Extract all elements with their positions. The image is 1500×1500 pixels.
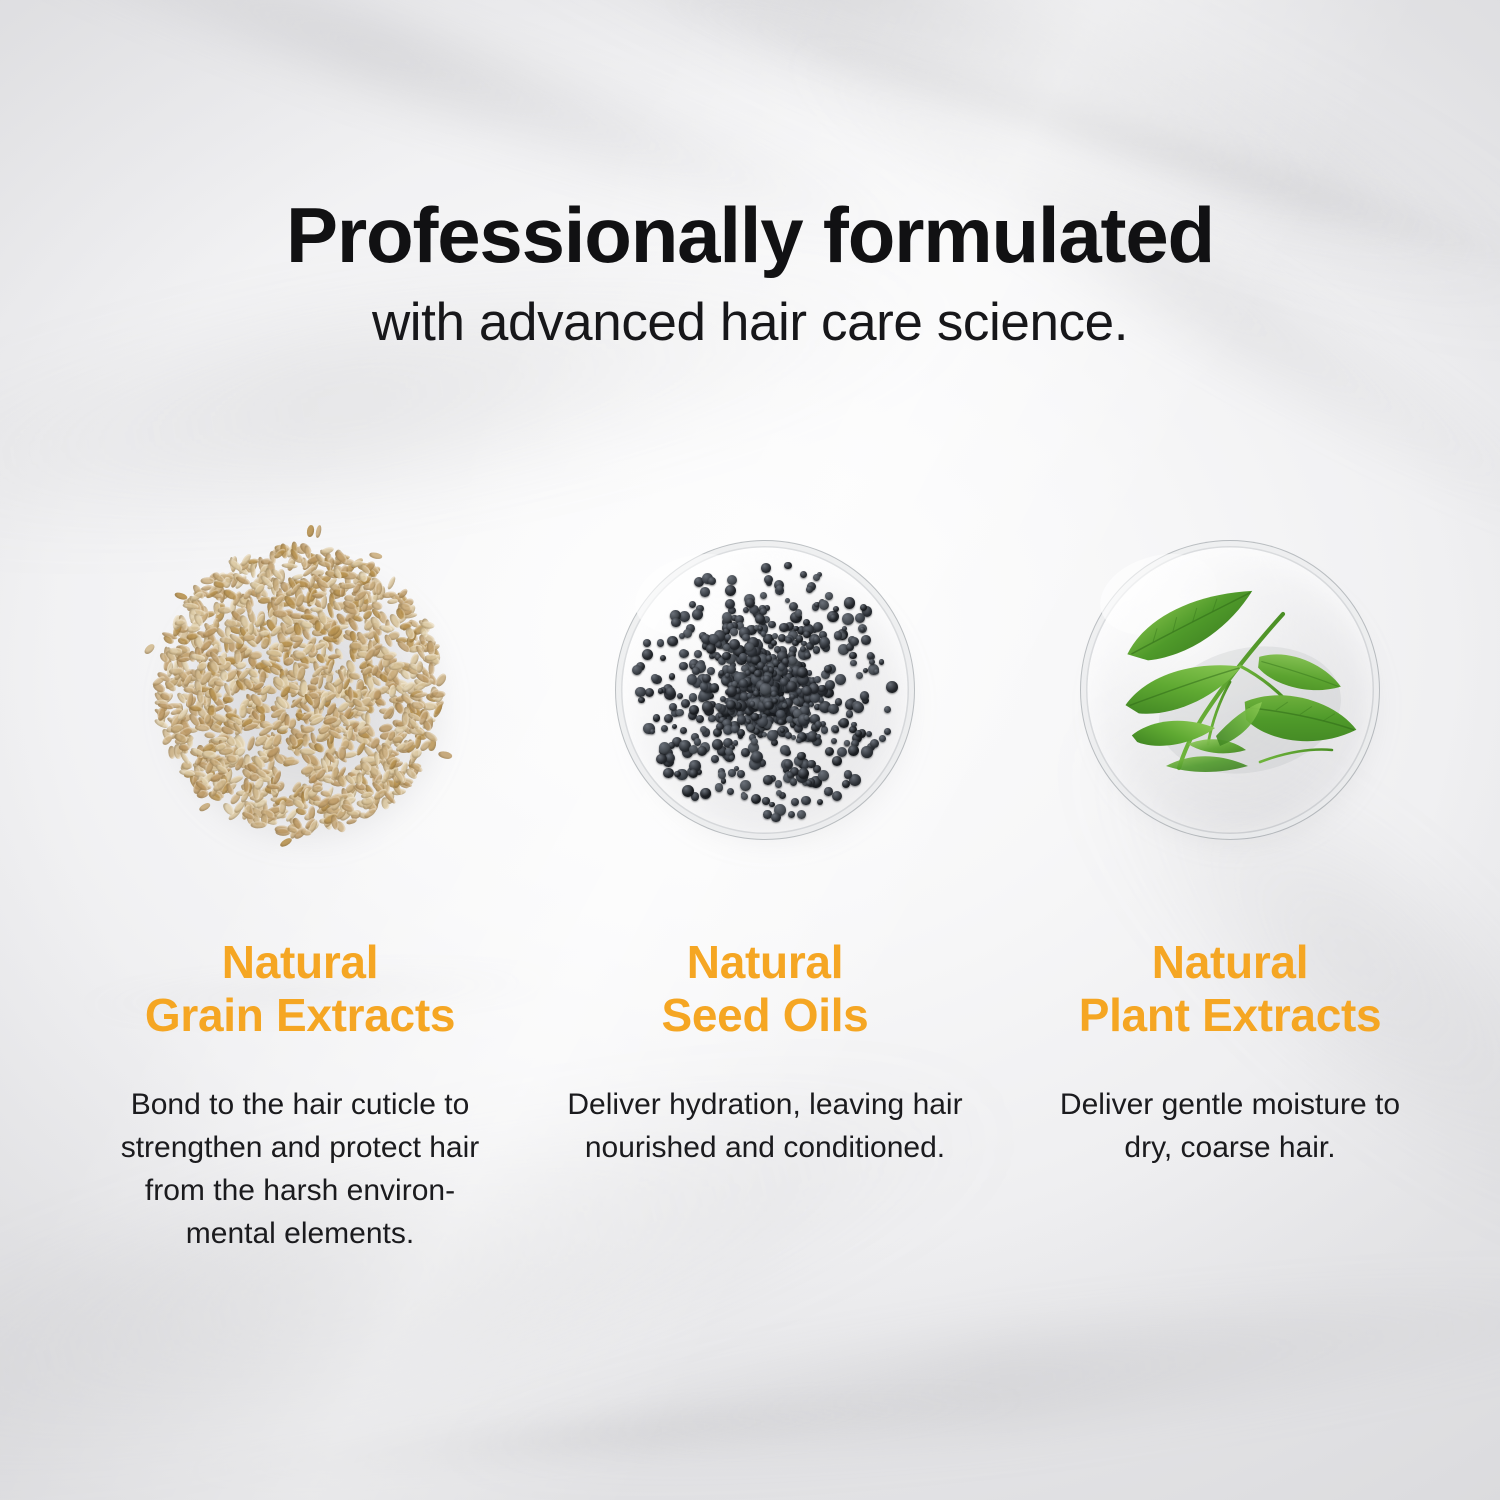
seed (689, 693, 698, 702)
seed (643, 639, 652, 648)
seed (861, 746, 873, 758)
ingredient-description: Deliver hydration, leaving hair nourishe… (567, 1083, 962, 1169)
seed (701, 788, 711, 798)
seed (638, 697, 645, 704)
seed (776, 585, 783, 592)
seed (851, 722, 856, 727)
seed (728, 769, 735, 776)
seed (855, 613, 865, 623)
grain-kernel (249, 651, 262, 661)
seed (819, 600, 829, 610)
seed (842, 613, 854, 625)
seed (800, 571, 807, 578)
seed (689, 705, 699, 715)
seed (731, 725, 739, 733)
seed (778, 719, 784, 725)
seed (679, 662, 688, 671)
seed (884, 728, 891, 735)
seed (791, 798, 800, 807)
seed (632, 665, 642, 675)
seed (797, 667, 808, 678)
grain-kernel (282, 563, 298, 569)
seed (729, 639, 740, 650)
seed (821, 726, 828, 733)
seed (682, 785, 694, 797)
seed (760, 608, 767, 615)
grain-kernel (401, 712, 408, 727)
seed (788, 811, 795, 818)
seed (839, 718, 849, 728)
seed (635, 687, 646, 698)
ingredient-column-seed: Natural Seed Oils Deliver hydration, lea… (540, 540, 990, 1255)
seed (768, 621, 776, 629)
seed (796, 635, 804, 643)
grain-kernel (415, 660, 423, 672)
seed (710, 683, 720, 693)
seed (725, 748, 733, 756)
seed (758, 626, 763, 631)
grain-kernel (388, 684, 396, 697)
seed (825, 680, 835, 690)
seed (679, 633, 685, 639)
seed (668, 637, 677, 646)
seed (832, 756, 842, 766)
seed (741, 793, 748, 800)
seed (844, 597, 856, 609)
seed (790, 778, 798, 786)
grain-kernel (217, 607, 232, 615)
infographic-page: Professionally formulated with advanced … (0, 0, 1500, 1500)
ingredient-column-plant: Natural Plant Extracts Deliver gentle mo… (990, 540, 1470, 1255)
grain-kernel (251, 821, 267, 829)
seed (764, 575, 773, 584)
seed (884, 706, 891, 713)
seed (663, 768, 673, 778)
seed (825, 747, 834, 756)
seed (737, 770, 745, 778)
seed (779, 623, 789, 633)
seed (817, 799, 823, 805)
seed (692, 667, 700, 675)
seed (785, 637, 792, 644)
seed (666, 687, 675, 696)
seed (833, 727, 839, 733)
seed (784, 562, 792, 570)
black-seeds (615, 540, 915, 840)
seed (746, 719, 751, 724)
seed (813, 646, 820, 653)
grain-kernel (387, 598, 399, 605)
seed (761, 563, 771, 573)
seed (696, 715, 704, 723)
grain-kernel (338, 745, 346, 759)
page-subtitle: with advanced hair care science. (0, 296, 1500, 349)
seed (661, 725, 668, 732)
seed (751, 794, 761, 804)
tea-leaves (1080, 540, 1380, 840)
leaf-icon (1080, 540, 1380, 840)
seed (677, 693, 683, 699)
seed (722, 612, 732, 622)
seed (669, 703, 677, 711)
seed (669, 673, 676, 680)
seed (807, 670, 812, 675)
headline-block: Professionally formulated with advanced … (0, 196, 1500, 349)
seed (870, 739, 879, 748)
seed (656, 754, 666, 764)
seed (842, 626, 847, 631)
seed (642, 649, 653, 660)
seed (844, 770, 853, 779)
seed (846, 710, 854, 718)
ingredient-title: Natural Plant Extracts (1079, 936, 1382, 1043)
seed (722, 677, 729, 684)
seed (733, 740, 738, 745)
seed (730, 628, 738, 636)
seed (828, 704, 839, 715)
seed (720, 696, 727, 703)
grain-kernels (150, 540, 450, 840)
grain-pile-image (150, 540, 450, 840)
petri-dish-green-leaves-image (1080, 540, 1380, 840)
seed (745, 643, 753, 651)
seed (861, 635, 871, 645)
grain-kernel (227, 754, 238, 762)
seed (793, 626, 799, 632)
seed (796, 738, 802, 744)
seed (754, 670, 762, 678)
seed (772, 633, 778, 639)
seed (825, 592, 833, 600)
seed (659, 742, 671, 754)
ingredient-title: Natural Grain Extracts (145, 936, 455, 1043)
seed (712, 739, 723, 750)
seed (832, 791, 842, 801)
seed (697, 746, 707, 756)
seed (806, 780, 812, 786)
seed (804, 652, 811, 659)
ingredient-columns: Natural Grain Extracts Bond to the hair … (0, 540, 1500, 1255)
grain-kernel (179, 744, 190, 751)
grain-kernel (283, 758, 299, 766)
seed (863, 668, 868, 673)
seed (651, 674, 659, 682)
seed (806, 586, 813, 593)
seed (835, 674, 846, 685)
seed (850, 660, 857, 667)
seed (689, 769, 698, 778)
seed (722, 652, 731, 661)
seed (776, 710, 784, 718)
seed (801, 796, 811, 806)
seed (680, 727, 688, 735)
grain-kernel (243, 778, 249, 793)
seed (879, 735, 886, 742)
page-title: Professionally formulated (0, 196, 1500, 274)
seed (797, 810, 807, 820)
grain-kernel (198, 802, 211, 813)
grain-kernel (386, 575, 397, 590)
seed (671, 618, 681, 628)
seed (725, 634, 731, 640)
seed (739, 679, 748, 688)
seed (711, 755, 719, 763)
seed (848, 745, 859, 756)
seed (653, 714, 660, 721)
ingredient-description: Deliver gentle moisture to dry, coarse h… (1060, 1083, 1400, 1169)
seed (672, 724, 677, 729)
seed (658, 688, 664, 694)
seed (760, 592, 768, 600)
seed (874, 669, 879, 674)
seed (737, 715, 747, 725)
seed (824, 787, 832, 795)
seed (814, 676, 821, 683)
seed (886, 681, 898, 693)
seed (679, 649, 688, 658)
seed (664, 714, 673, 723)
seed (660, 655, 666, 661)
seed (725, 599, 735, 609)
seed (866, 731, 872, 737)
seed (767, 730, 778, 741)
seed (715, 783, 724, 792)
seed (879, 659, 885, 665)
seed (793, 698, 800, 705)
seed (842, 780, 850, 788)
seed (833, 606, 839, 612)
grain-kernel (168, 647, 182, 654)
grain-kernel (143, 642, 156, 655)
seed (751, 713, 758, 720)
seed (813, 574, 820, 581)
seed (716, 723, 723, 730)
seed (867, 652, 874, 659)
seed (824, 665, 833, 674)
seed (771, 813, 780, 822)
seed (700, 587, 710, 597)
seed (779, 696, 785, 702)
seed (831, 738, 837, 744)
seed (689, 601, 696, 608)
seed (784, 760, 792, 768)
seed (853, 702, 865, 714)
ingredient-column-grain: Natural Grain Extracts Bond to the hair … (60, 540, 540, 1255)
grain-kernel (183, 686, 195, 692)
seed (849, 652, 856, 659)
seed (692, 609, 703, 620)
seed (775, 780, 783, 788)
grain-kernel (239, 704, 247, 718)
seed (830, 614, 837, 621)
petri-dish-black-seeds-image (615, 540, 915, 840)
seed (763, 666, 769, 672)
grain-kernel (369, 551, 383, 559)
ingredient-description: Bond to the hair cuticle to strengthen a… (121, 1083, 480, 1256)
seed (800, 646, 806, 652)
seed (650, 729, 655, 734)
seed (755, 614, 764, 623)
seed (694, 650, 703, 659)
seed (816, 734, 821, 739)
seed (802, 686, 812, 696)
seed (860, 627, 866, 633)
seed (797, 752, 806, 761)
seed (679, 611, 690, 622)
seed (751, 751, 763, 763)
grain-kernel (432, 690, 446, 697)
grain-kernel (429, 662, 435, 675)
grain-kernel (174, 591, 188, 601)
grain-kernel (411, 700, 424, 709)
seed (676, 709, 683, 716)
seed (763, 775, 772, 784)
seed (766, 655, 772, 661)
seed (815, 721, 822, 728)
seed (708, 577, 717, 586)
seed (725, 585, 736, 596)
seed (708, 715, 715, 722)
seed (657, 639, 665, 647)
seed (727, 788, 734, 795)
seed (869, 659, 875, 665)
grain-kernel (223, 696, 234, 703)
seed (850, 637, 859, 646)
seed (740, 780, 751, 791)
seed (818, 770, 830, 782)
seed (856, 672, 863, 679)
seed (700, 726, 707, 733)
seed (855, 730, 862, 737)
seed (645, 688, 654, 697)
ingredient-title: Natural Seed Oils (662, 936, 869, 1043)
seed (745, 670, 751, 676)
seed (803, 631, 811, 639)
seed (860, 691, 869, 700)
seed (727, 575, 737, 585)
